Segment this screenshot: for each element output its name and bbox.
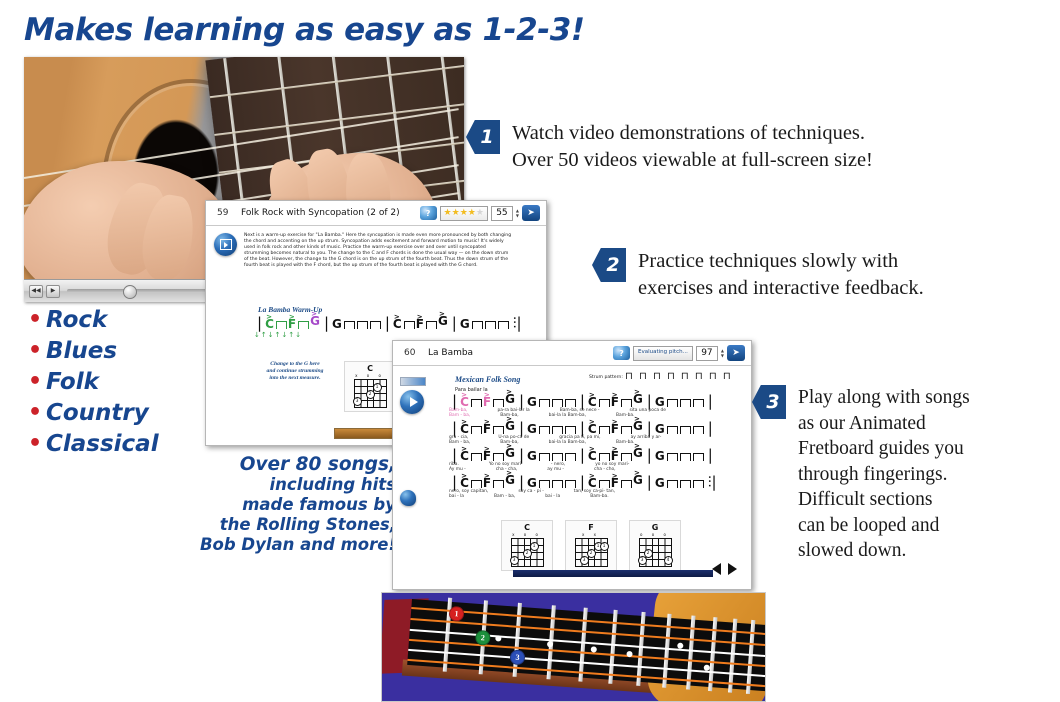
chord-diagram-g: G o o o 2 3 4 [629,520,681,571]
star-icon: ★ [460,209,468,218]
finger-marker-3: 3 [509,649,525,665]
exercise-body-text: Next is a warm-up exercise for "La Bamba… [244,233,512,270]
song-staff: |C>F>G> |G |C>F>G> |G | Bam-ba, pa-ra ba… [449,395,720,499]
scrubber-thumb[interactable] [123,285,137,299]
exercise-window-header: 59 Folk Rock with Syncopation (2 of 2) ★… [206,201,546,226]
nav-prev-arrow-icon[interactable] [712,563,721,575]
finger-dot: 2 [366,390,375,399]
callout-number-badge: 3 [752,385,786,419]
callout-2-text: Practice techniques slowly with exercise… [638,248,924,302]
genre-list: Rock Blues Folk Country Classical [18,305,159,460]
callout-2: 2 Practice techniques slowly with exerci… [592,248,924,302]
play-button-icon[interactable] [214,233,237,256]
exercise-annotation: Change to the G here and continue strumm… [252,361,338,382]
chord-grid: 1 2 3 [511,538,544,567]
song-window-header: 60 La Bamba Evaluating pitch... 97 ▲▼ ➤ [393,341,751,366]
comment-bubble-icon[interactable] [400,490,416,506]
page-title: Makes learning as easy as 1-2-3! [24,12,585,48]
staff-row: |C>F>G> |G |C>F>G> |G | gra - cia, U-na … [449,422,720,445]
star-rating: ★ ★ ★ ★ ★ [440,206,488,221]
callout-1-text: Watch video demonstrations of techniques… [512,120,873,174]
genre-item: Folk [18,367,159,398]
finger-dot: 2 [523,549,532,558]
song-window: 60 La Bamba Evaluating pitch... 97 ▲▼ ➤ … [392,340,752,590]
callout-number-badge: 1 [466,120,500,154]
chord-diagram-c: C x o o 1 2 3 [501,520,553,571]
finger-dot: 4 [664,556,673,565]
staff-row: |C>F>G> |G |C>F>G> |G | riba. Yo no soy … [449,449,720,472]
exercise-score: 55 [491,206,513,221]
song-title: La Bamba [428,348,473,358]
go-arrow-icon[interactable]: ➤ [727,345,745,361]
song-score: 97 [696,346,718,361]
staff-row: |C>F>G> |G |C>F>G> |G ⫶| nero, soy capit… [449,476,720,499]
chord-diagram-row: C x o o 1 2 3 F x x 1 1 2 3 [501,520,681,571]
nav-next-arrow-icon[interactable] [728,563,737,575]
finger-dot: 3 [510,556,519,565]
help-globe-icon[interactable] [613,346,630,360]
song-number: 60 [399,348,428,358]
song-navigation[interactable] [712,563,737,575]
genre-item: Country [18,398,159,429]
strum-pattern-label: Strum pattern: [589,375,623,380]
finger-dot: 3 [353,397,362,406]
star-icon: ★ [476,209,484,218]
songs-caption: Over 80 songs, including hits made famou… [196,455,396,555]
songs-caption-line: made famous by [196,495,396,515]
star-icon: ★ [468,209,476,218]
genre-item: Rock [18,305,159,336]
chord-grid: 2 3 4 [639,538,672,567]
genre-item: Classical [18,429,159,460]
song-left-rail [400,377,426,506]
pickup-lyric: Para bailar la [455,387,488,393]
score-stepper[interactable]: ▲▼ [721,349,724,358]
songs-caption-line: Over 80 songs, [196,455,396,475]
callout-number-badge: 2 [592,248,626,282]
finger-marker-2: 2 [475,630,491,646]
finger-dot: 3 [638,556,647,565]
evaluation-status: Evaluating pitch... [633,346,693,361]
strum-pattern-glyphs: ⊓ ⊓ ⊓ ⊓ ⊓ ⊓ ⊓ ⊓ [625,371,732,382]
help-globe-icon[interactable] [420,206,437,220]
chord-diagram-c: C x o o 1 2 3 [344,361,396,412]
play-icon[interactable]: ▶ [46,285,60,298]
star-icon: ★ [444,209,452,218]
exercise-notation: | C> F> G> | G | C> F> G> | G ⫶| [254,317,525,339]
mix-toggle[interactable] [400,377,426,386]
genre-item: Blues [18,336,159,367]
callout-3-text: Play along with songs as our Animated Fr… [798,385,970,564]
songs-caption-line: including hits [196,475,396,495]
exercise-number: 59 [212,208,241,218]
finger-dot: 3 [580,556,589,565]
go-arrow-icon[interactable]: ➤ [522,205,540,221]
song-fretboard-strip [513,570,713,577]
score-stepper[interactable]: ▲▼ [516,209,519,218]
star-icon: ★ [452,209,460,218]
staff-row: |C>F>G> |G |C>F>G> |G | Bam-ba, pa-ra ba… [449,395,720,418]
promo-page: Makes learning as easy as 1-2-3! [0,0,1060,700]
song-subtitle: Mexican Folk Song [455,375,520,384]
songs-caption-line: Bob Dylan and more! [196,535,396,555]
callout-3: 3 Play along with songs as our Animated … [752,385,970,564]
chord-diagram-f: F x x 1 1 2 3 [565,520,617,571]
chord-grid: 1 2 3 [354,379,387,408]
chord-grid: 1 1 2 3 [575,538,608,567]
exercise-title: Folk Rock with Syncopation (2 of 2) [241,208,400,218]
callout-1: 1 Watch video demonstrations of techniqu… [466,120,873,174]
play-button-icon[interactable] [400,390,424,414]
songs-caption-line: the Rolling Stones, [196,515,396,535]
step-backward-icon[interactable]: ◀◀ [29,285,43,298]
finger-dot: 1 [600,542,609,551]
animated-fretboard-screenshot: 1 2 3 [381,592,766,702]
finger-marker-1: 1 [449,606,465,622]
